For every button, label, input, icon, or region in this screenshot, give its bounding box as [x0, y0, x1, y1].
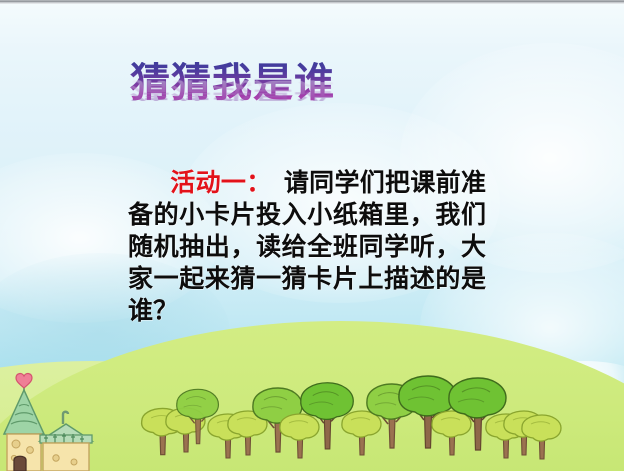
activity-label: 活动一： [170, 170, 272, 197]
activity-paragraph: 活动一：请同学们把课前准备的小卡片投入小纸箱里，我们随机抽出，读给全班同学听，大… [128, 168, 486, 328]
title-block: 猜猜我是谁 猜猜我是谁 [130, 62, 335, 143]
heart-icon [16, 374, 32, 388]
slide-canvas: 猜猜我是谁 猜猜我是谁 活动一：请同学们把课前准备的小卡片投入小纸箱里，我们随机… [0, 0, 624, 471]
window-top-bar [0, 0, 624, 4]
cartoon-house-illustration [0, 372, 120, 471]
slide-title-reflection: 猜猜我是谁 [130, 78, 335, 101]
